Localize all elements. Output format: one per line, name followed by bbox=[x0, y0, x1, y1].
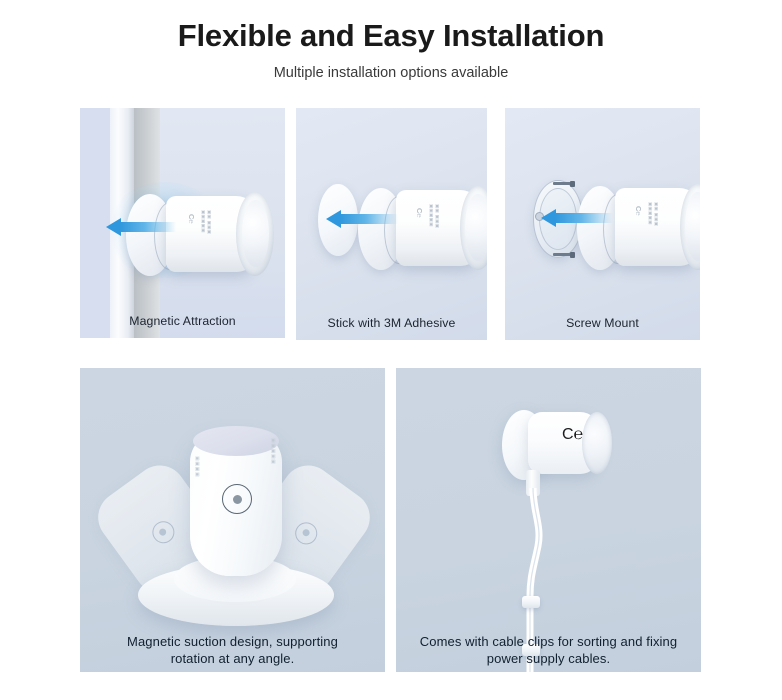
arrow-tail bbox=[555, 213, 613, 223]
screw-bottom-icon bbox=[553, 253, 573, 256]
installation-infographic: Flexible and Easy Installation Multiple … bbox=[0, 0, 782, 700]
panel-screw-mount: C℮ ▣▣ ▣▣▣▣▣▣▣▣ Screw Mount bbox=[505, 108, 700, 340]
panel-magnetic-attraction: C℮ ▣▣ ▣▣▣▣▣▣▣▣ Magnetic Attraction bbox=[80, 108, 285, 338]
camera-top-dome bbox=[193, 426, 279, 456]
screw-mount-direction-arrow bbox=[541, 209, 613, 227]
page-title: Flexible and Easy Installation bbox=[0, 0, 782, 53]
page-subtitle: Multiple installation options available bbox=[0, 53, 782, 81]
cable-clip-upper bbox=[522, 596, 540, 608]
panel-caption-rotation-line2: rotation at any angle. bbox=[80, 650, 385, 668]
panel-caption-cable-clips-line2: power supply cables. bbox=[396, 650, 701, 668]
ghost-lens-dot-icon bbox=[148, 517, 179, 548]
panel-caption-rotation-line1: Magnetic suction design, supporting bbox=[80, 633, 385, 651]
adhesive-direction-arrow bbox=[326, 210, 398, 228]
ce-mark-icon: C℮ bbox=[187, 214, 196, 224]
camera-lens-glass bbox=[582, 412, 612, 474]
camera-side-text-right: ▣▣▣▣▣ bbox=[270, 438, 276, 465]
arrow-head-icon bbox=[106, 218, 121, 236]
panel-caption-3m-adhesive: Stick with 3M Adhesive bbox=[296, 315, 487, 332]
camera-lens-indicator-icon bbox=[222, 484, 252, 514]
ce-mark-icon: C℮ bbox=[415, 208, 424, 218]
camera-label-text: ▣▣ ▣▣▣▣▣▣▣▣ bbox=[201, 210, 212, 234]
screw-top-icon bbox=[553, 182, 573, 185]
panel-cable-clips: C℮ Comes with cable clips for sorting an… bbox=[396, 368, 701, 672]
panel-caption-magnetic-attraction: Magnetic Attraction bbox=[80, 313, 285, 330]
arrow-head-icon bbox=[326, 210, 341, 228]
camera-lens-glass bbox=[465, 194, 487, 261]
arrow-tail bbox=[120, 222, 176, 232]
ce-mark-icon: C℮ bbox=[562, 426, 583, 444]
panel-3m-adhesive: C℮ ▣▣ ▣▣▣▣▣▣▣▣ Stick with 3M Adhesive bbox=[296, 108, 487, 340]
camera-side-text-left: ▣▣▣▣ bbox=[194, 456, 200, 477]
arrow-tail bbox=[340, 214, 398, 224]
panel-caption-screw-mount: Screw Mount bbox=[505, 315, 700, 332]
camera-label-text: ▣▣ ▣▣▣▣▣▣▣▣ bbox=[648, 202, 659, 226]
panel-caption-cable-clips-line1: Comes with cable clips for sorting and f… bbox=[396, 633, 701, 651]
camera-lens-glass bbox=[242, 200, 269, 267]
magnetic-direction-arrow bbox=[106, 218, 176, 236]
panel-rotation: ▣▣▣▣ ▣▣▣▣▣ Magnetic suction design, supp… bbox=[80, 368, 385, 672]
arrow-head-icon bbox=[541, 209, 556, 227]
ce-mark-icon: C℮ bbox=[634, 206, 643, 216]
ghost-lens-dot-icon bbox=[291, 518, 322, 549]
camera-label-text: ▣▣ ▣▣▣▣▣▣▣▣ bbox=[429, 204, 440, 228]
header: Flexible and Easy Installation Multiple … bbox=[0, 0, 782, 81]
